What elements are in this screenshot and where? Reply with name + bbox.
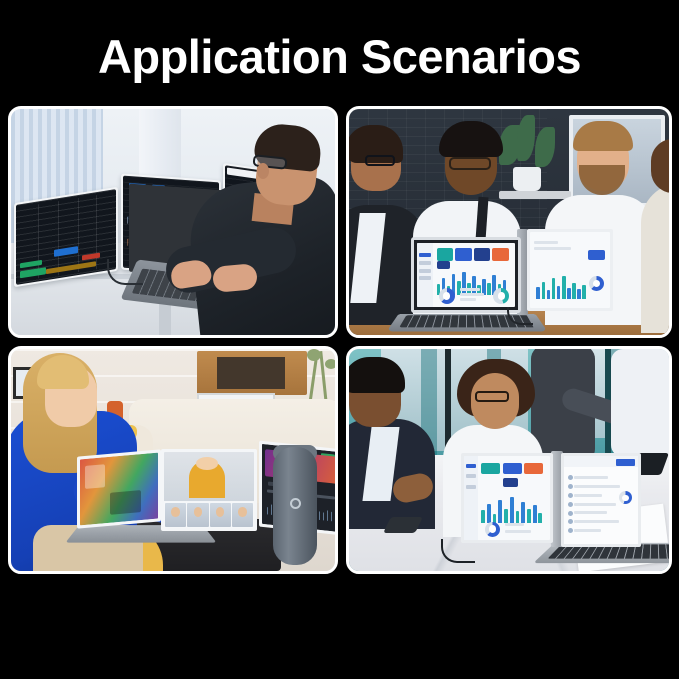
eyeglasses-icon — [475, 391, 509, 402]
list-view-ui — [564, 456, 638, 544]
dashboard-sidebar — [464, 456, 478, 540]
monitor-left — [77, 449, 161, 528]
video-call-screen — [164, 452, 254, 528]
scenario-panel-stock-trading[interactable] — [8, 106, 338, 338]
speaker-button-icon — [290, 498, 301, 509]
kpi-card — [437, 248, 454, 261]
product-feature-image: Application Scenarios — [0, 0, 679, 679]
participant-thumbnail — [187, 503, 208, 527]
scenario-panel-conference-room[interactable] — [346, 346, 672, 574]
kpi-card — [481, 463, 500, 474]
eyeglasses-icon — [449, 157, 491, 170]
gauge-chart — [493, 288, 509, 304]
monitor-left-screen — [80, 453, 158, 526]
page-title: Application Scenarios — [98, 28, 581, 86]
eyeglasses-icon — [365, 155, 395, 166]
plant-leaf — [307, 349, 321, 361]
speaker-face — [196, 457, 218, 470]
dashboard-ui — [464, 456, 550, 540]
monitor-left-screen — [16, 189, 116, 285]
scene-video-call — [11, 349, 335, 571]
secondary-dashboard-ui — [530, 232, 610, 308]
usb-c-cable — [441, 539, 475, 563]
active-speaker-video — [164, 452, 254, 501]
dashboard-ui — [417, 243, 515, 307]
person-4-torso — [641, 183, 669, 333]
bar-chart — [536, 275, 587, 299]
cabinet-opening — [217, 357, 285, 389]
scene-conference-room — [349, 349, 669, 571]
monitor-right — [561, 453, 641, 547]
bar-chart — [481, 495, 545, 523]
monitor-left — [14, 187, 118, 287]
person-4-torso — [611, 349, 669, 457]
gauge-chart — [485, 522, 500, 537]
gauge-chart — [589, 276, 604, 291]
person-ear — [257, 163, 269, 179]
participant-thumbnails — [164, 502, 254, 528]
header-badge — [616, 459, 635, 466]
monitor-left — [461, 453, 553, 543]
kpi-card — [524, 463, 543, 474]
scenario-grid — [8, 106, 672, 574]
kpi-card — [503, 463, 522, 474]
scenario-panel-video-call[interactable] — [8, 346, 338, 574]
laptop-screen — [411, 237, 521, 313]
kpi-card — [455, 248, 472, 261]
scenario-panel-team-meeting[interactable] — [346, 106, 672, 338]
kpi-card — [474, 248, 491, 261]
side-table — [499, 191, 571, 199]
highlight-card — [503, 478, 518, 487]
page-title-container: Application Scenarios — [0, 28, 679, 86]
scene-team-meeting — [349, 109, 669, 335]
gauge-chart — [439, 288, 455, 304]
participant-thumbnail — [165, 503, 186, 527]
participant-thumbnail — [232, 503, 253, 527]
gauge-chart — [619, 491, 632, 504]
participant-thumbnail — [210, 503, 231, 527]
kpi-card — [492, 248, 509, 261]
plant-leaf — [325, 359, 335, 369]
monitor-center — [161, 449, 257, 531]
scene-stock-trading — [11, 109, 335, 335]
plant-pot — [513, 167, 541, 191]
side-monitor — [527, 229, 613, 311]
highlight-card — [588, 250, 606, 260]
